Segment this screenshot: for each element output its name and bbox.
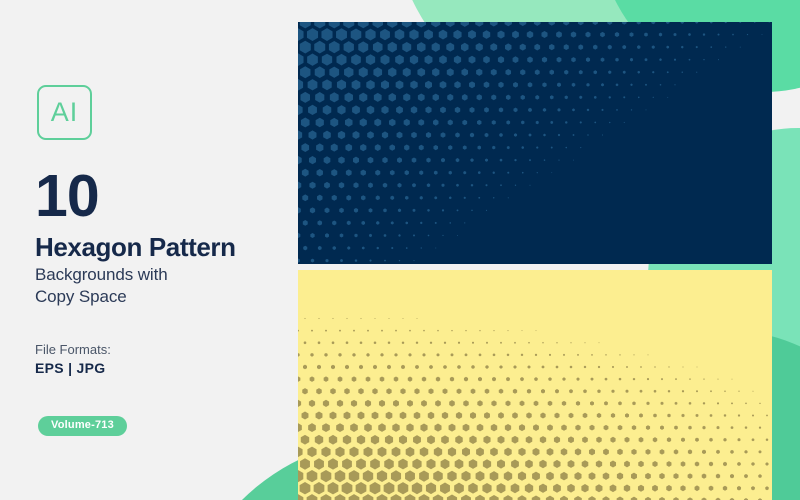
- page-title: Hexagon Pattern: [35, 234, 236, 260]
- file-formats-value: EPS | JPG: [35, 360, 105, 377]
- page-subtitle-line-1: Backgrounds with: [35, 264, 168, 286]
- yellow-hexagon-panel: [298, 270, 772, 500]
- navy-halftone-hexagons: [298, 22, 772, 264]
- page-subtitle: Backgrounds with Copy Space: [35, 264, 168, 308]
- yellow-halftone-hexagons: [298, 270, 772, 500]
- item-count: 10: [35, 167, 99, 226]
- volume-badge: Volume-713: [38, 416, 127, 436]
- page-subtitle-line-2: Copy Space: [35, 286, 168, 308]
- poster-canvas: AI 10 Hexagon Pattern Backgrounds with C…: [0, 0, 800, 500]
- ai-badge-label: AI: [51, 99, 79, 126]
- navy-hexagon-panel: [298, 22, 772, 264]
- adobe-illustrator-badge-icon: AI: [37, 85, 92, 140]
- file-formats-label: File Formats:: [35, 342, 111, 358]
